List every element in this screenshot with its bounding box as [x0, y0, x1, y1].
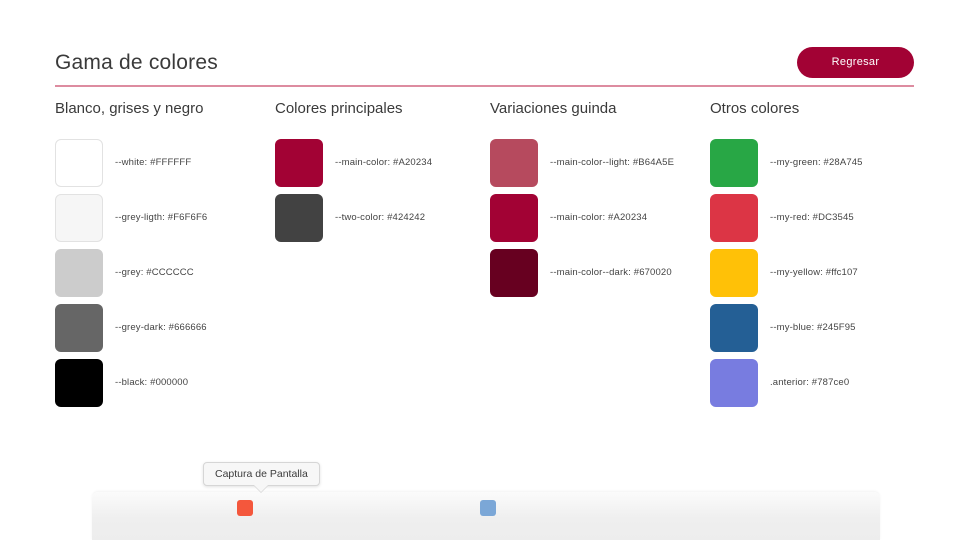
- column-title: Otros colores: [710, 101, 935, 116]
- page-header: Gama de colores Regresar: [55, 38, 914, 86]
- color-swatch[interactable]: [710, 359, 758, 407]
- palette-column: Colores principales--main-color: #A20234…: [275, 101, 490, 414]
- color-swatch[interactable]: [55, 194, 103, 242]
- swatch-row: --my-green: #28A745: [710, 139, 935, 187]
- swatch-row: --white: #FFFFFF: [55, 139, 275, 187]
- column-title: Blanco, grises y negro: [55, 101, 275, 116]
- tooltip-label: Captura de Pantalla: [215, 468, 308, 480]
- swatch-list: --white: #FFFFFF--grey-ligth: #F6F6F6--g…: [55, 139, 275, 407]
- swatch-row: --main-color: #A20234: [490, 194, 710, 242]
- swatch-row: --black: #000000: [55, 359, 275, 407]
- color-swatch[interactable]: [55, 139, 103, 187]
- palette-column: Variaciones guinda--main-color--light: #…: [490, 101, 710, 414]
- swatch-label: --main-color--light: #B64A5E: [550, 157, 674, 168]
- swatch-label: --two-color: #424242: [335, 212, 425, 223]
- swatch-row: --my-blue: #245F95: [710, 304, 935, 352]
- swatch-list: --my-green: #28A745--my-red: #DC3545--my…: [710, 139, 935, 407]
- color-swatch[interactable]: [490, 249, 538, 297]
- swatch-list: --main-color--light: #B64A5E--main-color…: [490, 139, 710, 297]
- swatch-label: --white: #FFFFFF: [115, 157, 191, 168]
- swatch-row: --two-color: #424242: [275, 194, 490, 242]
- color-swatch[interactable]: [275, 194, 323, 242]
- back-button[interactable]: Regresar: [797, 47, 914, 78]
- record-icon[interactable]: [237, 500, 253, 516]
- color-swatch[interactable]: [490, 194, 538, 242]
- column-title: Variaciones guinda: [490, 101, 710, 116]
- swatch-row: --grey-ligth: #F6F6F6: [55, 194, 275, 242]
- swatch-label: --my-yellow: #ffc107: [770, 267, 858, 278]
- color-swatch[interactable]: [710, 249, 758, 297]
- swatch-label: --main-color: #A20234: [550, 212, 647, 223]
- palette-columns: Blanco, grises y negro--white: #FFFFFF--…: [55, 101, 935, 414]
- tooltip-arrow-icon: [254, 485, 268, 492]
- screenshot-tooltip: Captura de Pantalla: [203, 462, 320, 486]
- palette-column: Blanco, grises y negro--white: #FFFFFF--…: [55, 101, 275, 414]
- color-swatch[interactable]: [490, 139, 538, 187]
- swatch-row: --main-color--dark: #670020: [490, 249, 710, 297]
- color-swatch[interactable]: [55, 359, 103, 407]
- swatch-row: --main-color--light: #B64A5E: [490, 139, 710, 187]
- swatch-row: --main-color: #A20234: [275, 139, 490, 187]
- color-swatch[interactable]: [55, 249, 103, 297]
- swatch-list: --main-color: #A20234--two-color: #42424…: [275, 139, 490, 242]
- color-swatch[interactable]: [275, 139, 323, 187]
- palette-column: Otros colores--my-green: #28A745--my-red…: [710, 101, 935, 414]
- swatch-row: --my-yellow: #ffc107: [710, 249, 935, 297]
- swatch-label: --grey: #CCCCCC: [115, 267, 194, 278]
- swatch-label: --grey-ligth: #F6F6F6: [115, 212, 207, 223]
- color-swatch[interactable]: [55, 304, 103, 352]
- column-title: Colores principales: [275, 101, 490, 116]
- color-palette-page: Gama de colores Regresar Blanco, grises …: [0, 0, 960, 540]
- info-icon[interactable]: [480, 500, 496, 516]
- swatch-label: --my-green: #28A745: [770, 157, 863, 168]
- swatch-label: --main-color: #A20234: [335, 157, 432, 168]
- swatch-row: --my-red: #DC3545: [710, 194, 935, 242]
- header-divider: [55, 85, 914, 87]
- swatch-row: --grey: #CCCCCC: [55, 249, 275, 297]
- swatch-row: .anterior: #787ce0: [710, 359, 935, 407]
- page-title: Gama de colores: [55, 52, 218, 73]
- swatch-row: --grey-dark: #666666: [55, 304, 275, 352]
- swatch-label: --my-blue: #245F95: [770, 322, 856, 333]
- color-swatch[interactable]: [710, 194, 758, 242]
- swatch-label: --my-red: #DC3545: [770, 212, 854, 223]
- swatch-label: --main-color--dark: #670020: [550, 267, 672, 278]
- bottom-toolbar-panel[interactable]: [92, 492, 880, 540]
- color-swatch[interactable]: [710, 304, 758, 352]
- color-swatch[interactable]: [710, 139, 758, 187]
- swatch-label: .anterior: #787ce0: [770, 377, 849, 388]
- swatch-label: --black: #000000: [115, 377, 188, 388]
- swatch-label: --grey-dark: #666666: [115, 322, 207, 333]
